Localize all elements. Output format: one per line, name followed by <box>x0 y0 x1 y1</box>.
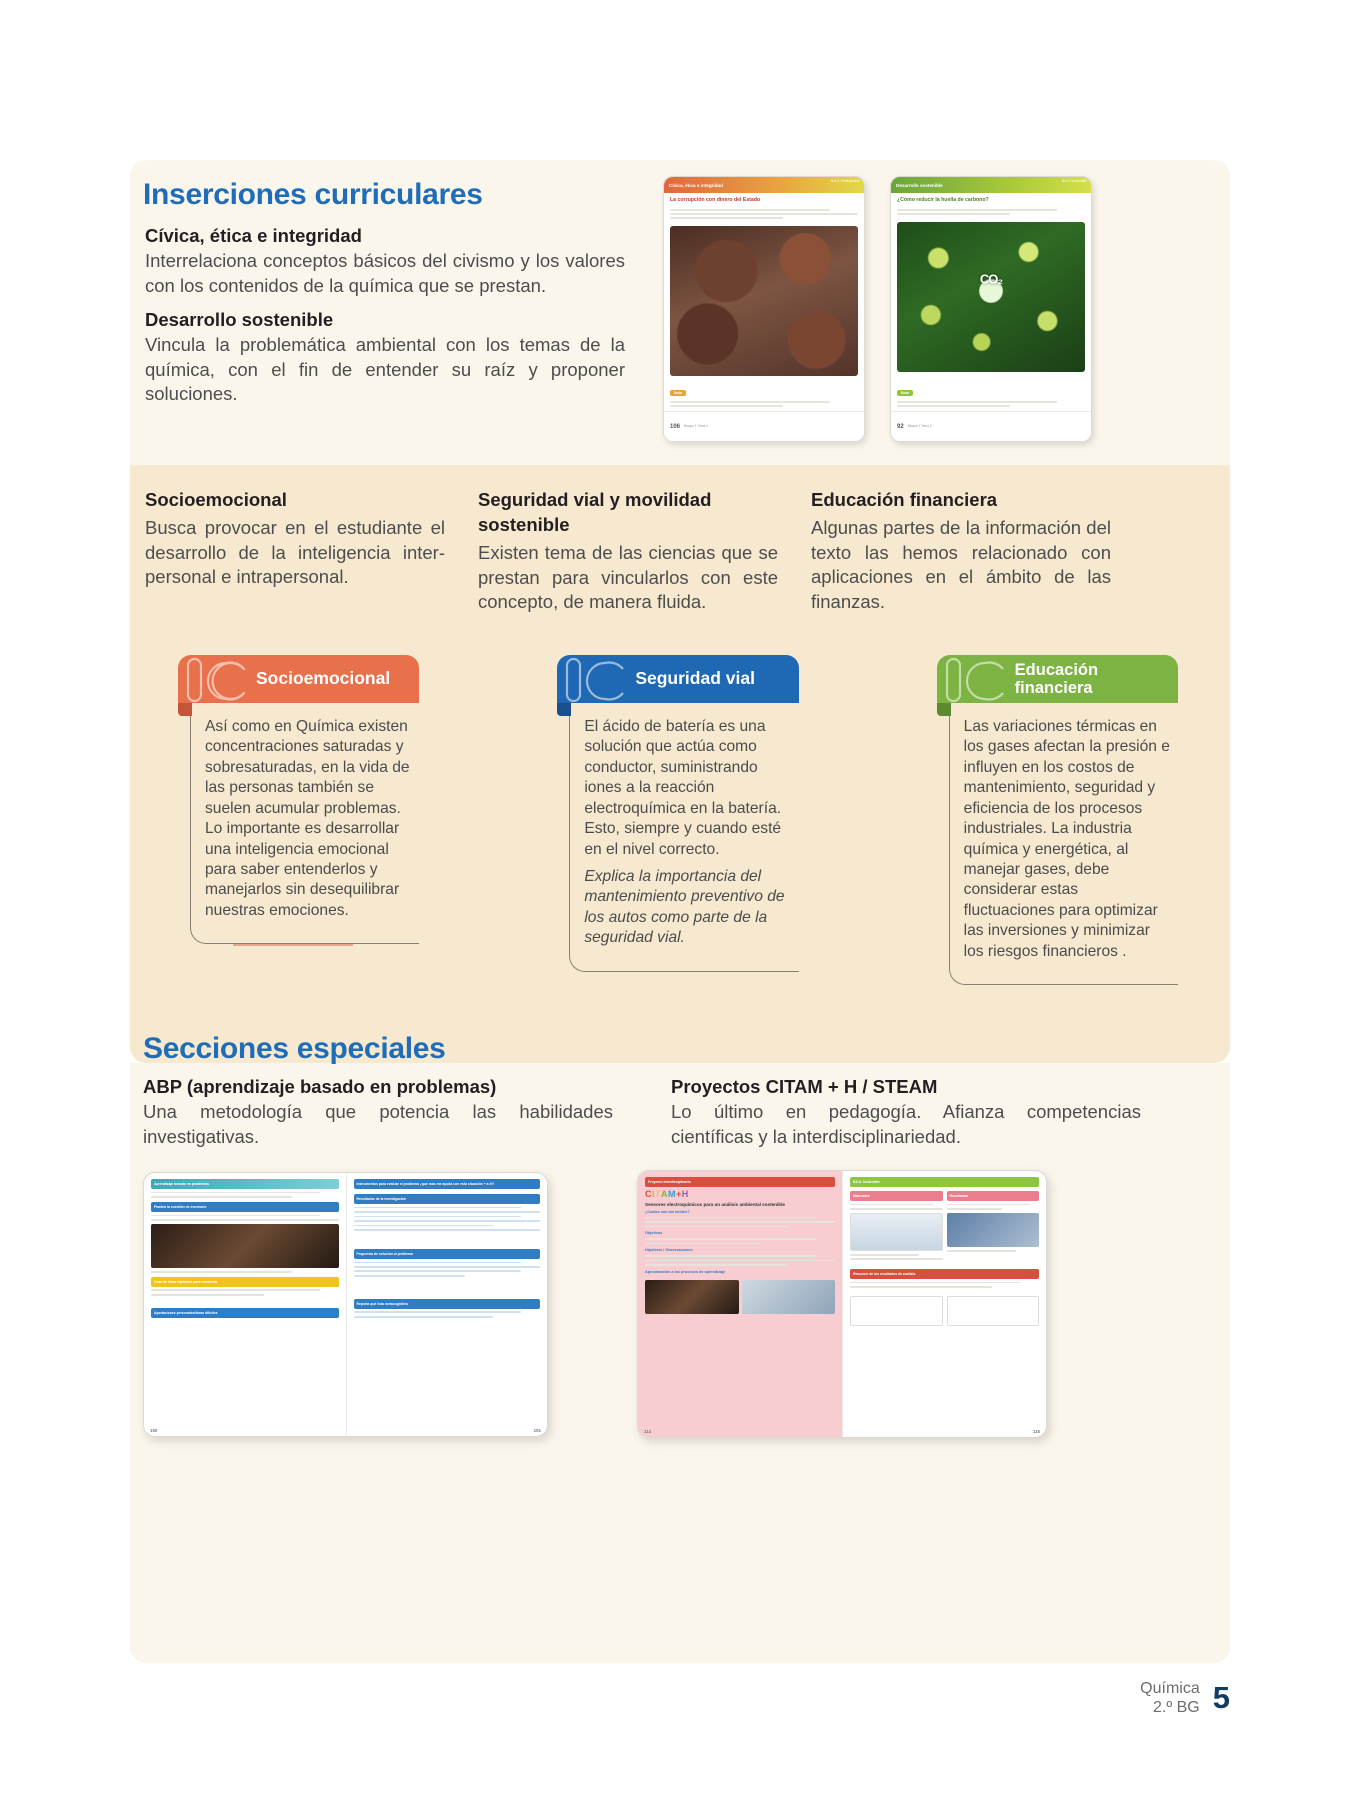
especiales-column-abp: ABP (aprendizaje basado en problemas) Un… <box>143 1075 613 1149</box>
thumbnail-page-title: ¿Cómo reducir la huella de carbono? <box>891 193 1091 205</box>
thumbnail-lines <box>891 205 1091 219</box>
abp-folio-right: 101 <box>534 1428 541 1433</box>
thumbnail-photo <box>670 226 858 376</box>
transversal-heading-socioemocional: Socioemocional <box>145 488 445 513</box>
thumbnail-tab-label: Desarrollo sostenible <box>896 183 943 188</box>
citam-block-7-label: Resumen de los resultados de análisis <box>853 1272 915 1276</box>
ic-card-text-italic: Explica la importancia del mantenimiento… <box>584 867 790 949</box>
citam-spread-right-page: B1U1 Sostenible Materiales Resultados <box>842 1171 1046 1437</box>
abp-spread-right-page: Instrumentos para evaluar el problema ¿q… <box>346 1173 548 1436</box>
abp-section-6: Reporta qué lista metacognitiva <box>354 1299 541 1309</box>
abp-section-2: Lista de ideas hipótesis para resolverla <box>151 1277 339 1287</box>
especiales-body-citam: Lo último en pedagogía. Afianza competen… <box>671 1100 1141 1149</box>
abp-section-1-label: Plantea la cuestión de escenario <box>154 1205 206 1209</box>
ic-card-body: Las variaciones térmicas en los gases af… <box>949 703 1178 985</box>
especiales-body-abp: Una metodología que potencia las habilid… <box>143 1100 613 1149</box>
abp-section-6-label: Reporta qué lista metacognitiva <box>357 1302 408 1306</box>
ic-card-educacion-financiera: Educación financiera Las variaciones tér… <box>937 655 1178 985</box>
ic-card-text: Así como en Química existen concentracio… <box>205 717 411 921</box>
especiales-columns: ABP (aprendizaje basado en problemas) Un… <box>143 1075 1143 1149</box>
thumbnail-note-badge: Nota <box>897 390 913 396</box>
abp-right-header-label: Instrumentos para evaluar el problema ¿q… <box>357 1182 495 1186</box>
ic-card-text: El ácido de batería es una solución que … <box>584 717 790 860</box>
citam-folio-left: 114 <box>644 1429 651 1434</box>
abp-section-4: Propuesta de solución al problema <box>354 1249 541 1259</box>
ic-card-body: El ácido de batería es una solución que … <box>569 703 798 972</box>
thumbnail-footer: 106 Bloque 1 Tema 1 <box>664 411 864 441</box>
ic-card-seguridad-vial: Seguridad vial El ácido de batería es un… <box>557 655 798 985</box>
transversal-body-socioemocional: Busca provocar en el estudiante el desar… <box>145 516 445 590</box>
citam-block-3: Hipótesis / Observaciones <box>645 1248 835 1252</box>
curricular-thumbnails: Cívica, ética e integridad B1U1 Particip… <box>663 176 1092 442</box>
thumbnail-lines <box>664 205 864 223</box>
thumbnail-folio: 106 <box>670 424 680 430</box>
ic-card-label: Educación financiera <box>1015 661 1178 698</box>
curricular-item-civica: Cívica, ética e integridad Interrelacion… <box>145 224 625 298</box>
abp-section-1: Plantea la cuestión de escenario <box>151 1202 339 1212</box>
transversal-columns: Socioemocional Busca provocar en el estu… <box>145 488 1215 615</box>
abp-right-header: Instrumentos para evaluar el problema ¿q… <box>354 1179 541 1189</box>
ic-logo-icon <box>182 655 260 703</box>
abp-section-2-label: Lista de ideas hipótesis para resolverla <box>154 1280 217 1284</box>
citam-block-1: ¿Cuáles son los límites? <box>645 1210 835 1214</box>
ic-card-header[interactable]: Educación financiera <box>937 655 1178 703</box>
citam-block-4: Aproximación a los procesos de aprendiza… <box>645 1270 835 1274</box>
citam-logo: CITAM+H <box>645 1187 835 1202</box>
citam-folio-right: 115 <box>1033 1429 1040 1434</box>
abp-left-footer: 100 <box>150 1428 340 1433</box>
transversal-heading-seguridad: Seguridad vial y movilidad sostenible <box>478 488 778 538</box>
abp-section-4-label: Propuesta de solución al problema <box>357 1252 413 1256</box>
abp-folio-left: 100 <box>150 1428 157 1433</box>
abp-section-3: Resultados de la investigación <box>354 1194 541 1204</box>
citam-title: Sensores electroquímicos para un análisi… <box>645 1202 835 1207</box>
thumbnail-tab-label: Cívica, ética e integridad <box>669 183 723 188</box>
ic-card-label: Socioemocional <box>256 669 390 689</box>
abp-right-footer: 101 <box>353 1428 542 1433</box>
transversal-column-financiera: Educación financiera Algunas partes de l… <box>811 488 1111 615</box>
ic-card-label: Seguridad vial <box>635 669 755 689</box>
transversal-body-seguridad: Existen tema de las ciencias que se pres… <box>478 541 778 615</box>
citam-block-5-label: Materiales <box>853 1194 870 1198</box>
thumbnail-page-title: La corrupción con dinero del Estado <box>664 193 864 205</box>
ic-card-body: Así como en Química existen concentracio… <box>190 703 419 944</box>
abp-section-5: Aportaciones personales/ideas difíciles <box>151 1308 339 1318</box>
abp-left-header: Aprendizaje basado en problemas <box>151 1179 339 1189</box>
ic-card-underline <box>233 944 353 945</box>
thumbnail-note: Nota <box>670 381 858 409</box>
ic-logo-icon <box>561 655 639 703</box>
especiales-column-citam: Proyectos CITAM + H / STEAM Lo último en… <box>671 1075 1141 1149</box>
curricular-body-desarrollo: Vincula la problemática ambiental con lo… <box>145 333 625 407</box>
footer-book-title: Química <box>1140 1679 1200 1699</box>
citam-block-6-label: Resultados <box>950 1194 968 1198</box>
thumbnail-folio-sub: Bloque 1 Tema 1 <box>684 425 708 429</box>
ic-card-tail <box>178 703 192 716</box>
thumbnail-folio-sub: Bloque 1 Tema 2 <box>908 425 932 429</box>
citam-project-tab-right-label: B1U1 Sostenible <box>853 1180 880 1184</box>
curricular-body-civica: Interrelaciona conceptos básicos del civ… <box>145 249 625 298</box>
ic-card-tail <box>557 703 571 716</box>
thumbnail-topbar: Cívica, ética e integridad B1U1 Particip… <box>664 177 864 193</box>
ic-logo-icon <box>941 655 1019 703</box>
page-title-especiales: Secciones especiales <box>143 1032 446 1066</box>
ic-card-tail <box>937 703 951 716</box>
especiales-heading-citam: Proyectos CITAM + H / STEAM <box>671 1075 1141 1100</box>
abp-left-header-label: Aprendizaje basado en problemas <box>154 1182 209 1186</box>
citam-block-5: Materiales <box>850 1191 943 1201</box>
footer-meta: Química 2.º BG <box>1140 1679 1200 1718</box>
citam-spread-left-page: Proyecto interdisciplinario CITAM+H Sens… <box>638 1171 842 1437</box>
thumbnail-topbar: Desarrollo sostenible B1U1 Sostenible <box>891 177 1091 193</box>
footer-page-number: 5 <box>1213 1680 1230 1716</box>
thumbnail-tab-side: B1U1 Participación <box>831 179 860 183</box>
citam-left-footer: 114 <box>644 1429 836 1434</box>
thumbnail-note: Nota <box>897 381 1085 409</box>
thumbnail-footer: 92 Bloque 1 Tema 2 <box>891 411 1091 441</box>
ic-card-header[interactable]: Seguridad vial <box>557 655 798 703</box>
citam-project-tab: Proyecto interdisciplinario <box>645 1177 835 1187</box>
page-title-curricular: Inserciones curriculares <box>143 178 483 212</box>
transversal-column-seguridad: Seguridad vial y movilidad sostenible Ex… <box>478 488 778 615</box>
footer-grade: 2.º BG <box>1140 1698 1200 1718</box>
citam-block-2: Objetivos <box>645 1231 835 1235</box>
ic-card-header[interactable]: Socioemocional <box>178 655 419 703</box>
thumbnail-desarrollo[interactable]: Desarrollo sostenible B1U1 Sostenible ¿C… <box>890 176 1092 442</box>
especiales-heading-abp: ABP (aprendizaje basado en problemas) <box>143 1075 613 1100</box>
citam-spread[interactable]: Proyecto interdisciplinario CITAM+H Sens… <box>637 1170 1047 1438</box>
ic-cards: Socioemocional Así como en Química exist… <box>178 655 1178 985</box>
transversal-column-socioemocional: Socioemocional Busca provocar en el estu… <box>145 488 445 615</box>
thumbnail-photo-forest: CO₂ <box>897 222 1085 372</box>
thumbnail-folio: 92 <box>897 424 904 430</box>
abp-spread-left-page: Aprendizaje basado en problemas Plantea … <box>144 1173 346 1436</box>
curricular-heading-civica: Cívica, ética e integridad <box>145 224 625 249</box>
page-root: Inserciones curriculares Cívica, ética e… <box>0 0 1350 1800</box>
curricular-item-desarrollo: Desarrollo sostenible Vincula la problem… <box>145 308 625 407</box>
citam-project-tab-label: Proyecto interdisciplinario <box>648 1180 691 1184</box>
abp-spread[interactable]: Aprendizaje basado en problemas Plantea … <box>143 1172 548 1437</box>
citam-right-footer: 115 <box>849 1429 1040 1434</box>
thumbnail-tab-side: B1U1 Sostenible <box>1062 179 1087 183</box>
citam-block-7: Resumen de los resultados de análisis <box>850 1269 1039 1279</box>
citam-project-tab-right: B1U1 Sostenible <box>850 1177 1039 1187</box>
transversal-heading-financiera: Educación financiera <box>811 488 1111 513</box>
abp-photo <box>151 1224 339 1268</box>
ic-card-text: Las variaciones térmicas en los gases af… <box>964 717 1170 962</box>
thumbnail-molecule-label: CO₂ <box>980 272 1002 287</box>
transversal-body-financiera: Algunas partes de la información del tex… <box>811 516 1111 614</box>
citam-block-6: Resultados <box>947 1191 1040 1201</box>
thumbnail-note-badge: Nota <box>670 390 686 396</box>
abp-section-3-label: Resultados de la investigación <box>357 1197 407 1201</box>
ic-card-socioemocional: Socioemocional Así como en Química exist… <box>178 655 419 985</box>
thumbnail-civica[interactable]: Cívica, ética e integridad B1U1 Particip… <box>663 176 865 442</box>
curricular-heading-desarrollo: Desarrollo sostenible <box>145 308 625 333</box>
abp-section-5-label: Aportaciones personales/ideas difíciles <box>154 1311 218 1315</box>
page-footer: Química 2.º BG 5 <box>1140 1679 1230 1718</box>
